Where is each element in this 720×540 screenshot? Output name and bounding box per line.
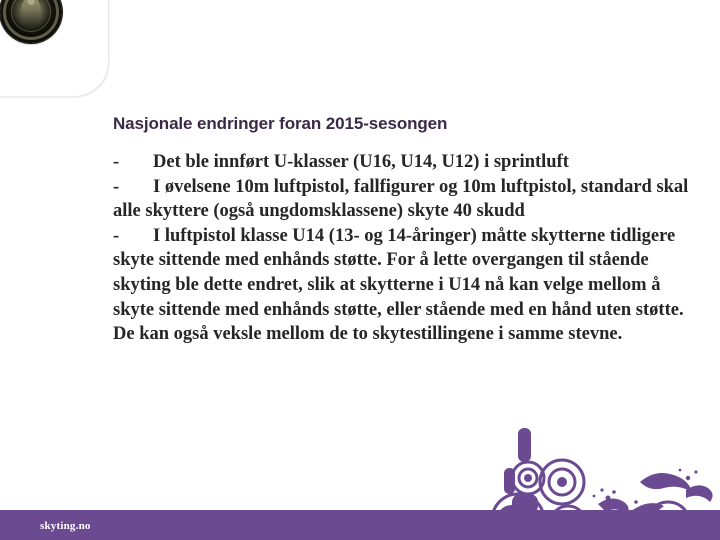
bullet-dash: - <box>113 175 153 200</box>
footer-bar <box>0 510 720 540</box>
logo-plate <box>0 0 108 96</box>
slide-canvas: Nasjonale endringer foran 2015-sesongen … <box>0 0 720 540</box>
footer-website-label: skyting.no <box>40 520 91 532</box>
bullet-dash: - <box>113 224 153 249</box>
body-paragraph-1: -Det ble innført U-klasser (U16, U14, U1… <box>113 150 701 175</box>
body-paragraph-3-text: I luftpistol klasse U14 (13- og 14-åring… <box>113 226 688 344</box>
body-paragraph-3: -I luftpistol klasse U14 (13- og 14-årin… <box>113 224 701 347</box>
body-paragraph-1-text: Det ble innført U-klasser (U16, U14, U12… <box>153 152 569 172</box>
body-paragraph-2-text: I øvelsene 10m luftpistol, fallfigurer o… <box>113 177 693 222</box>
slide-body: -Det ble innført U-klasser (U16, U14, U1… <box>113 150 701 347</box>
slide-title: Nasjonale endringer foran 2015-sesongen <box>113 113 673 135</box>
bullet-dash: - <box>113 150 153 175</box>
organization-emblem-icon <box>0 0 62 43</box>
body-paragraph-2: -I øvelsene 10m luftpistol, fallfigurer … <box>113 175 701 224</box>
